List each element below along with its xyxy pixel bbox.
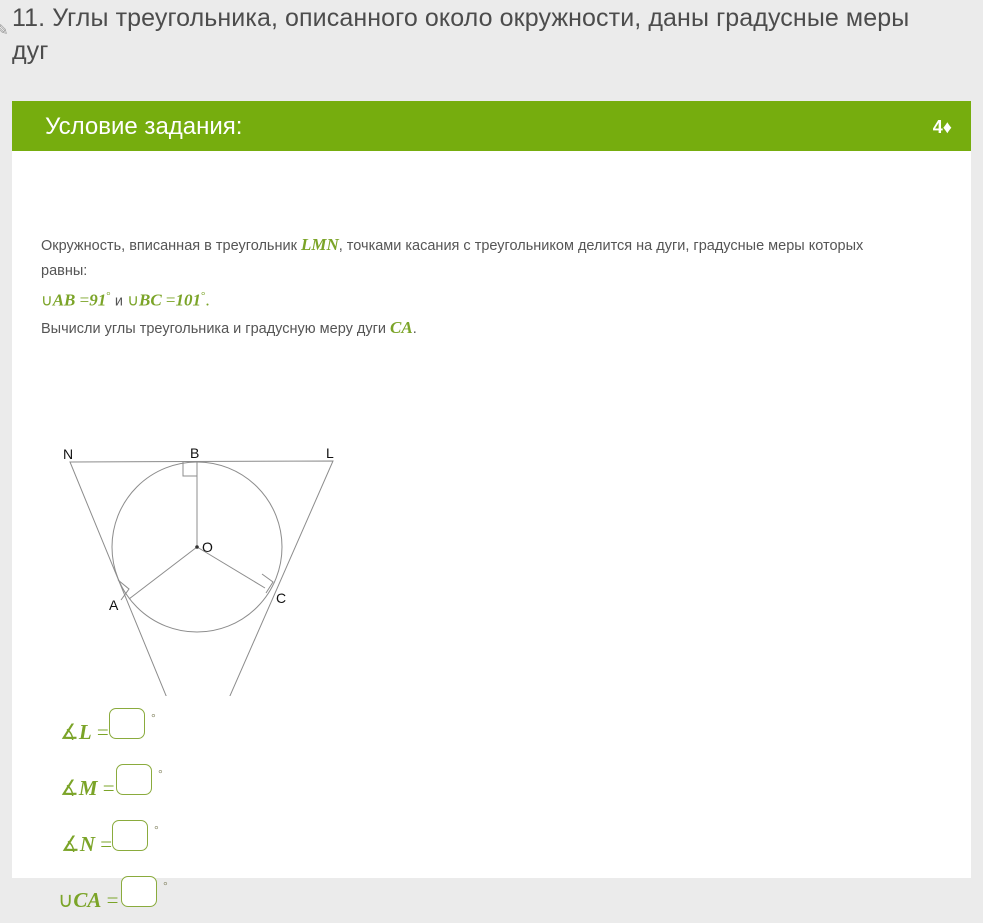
angle-equals-n: = — [100, 832, 112, 856]
center-point-o — [195, 545, 199, 549]
tangent-label-c: C — [276, 590, 286, 606]
angle-symbol-l: ∡ — [60, 720, 79, 744]
task-panel-header: Условие задания: 4♦ — [12, 101, 971, 151]
task-panel-header-title: Условие задания: — [45, 112, 242, 142]
statement-conjunction: и — [115, 294, 123, 310]
arc-variable-ca: CA — [73, 888, 101, 912]
answer-degree-l: ° — [151, 711, 156, 725]
task-panel: Условие задания: 4♦ Окружность, вписанна… — [12, 101, 971, 878]
tangent-label-a: A — [109, 597, 119, 613]
angle-variable-m: M — [79, 776, 98, 800]
statement-text-1a: Окружность, вписанная в треугольник — [41, 238, 301, 254]
arc-name-ab: AB — [53, 291, 76, 310]
answer-input-angle-l[interactable] — [109, 708, 145, 739]
triangle-lmn-path — [70, 461, 333, 696]
angle-symbol-m: ∡ — [60, 776, 79, 800]
answer-label-angle-n: ∡N = — [61, 832, 112, 857]
answer-row-angle-m: ∡M = ° — [52, 755, 352, 811]
center-label-o: O — [202, 539, 213, 555]
triangle-name-lmn: LMN — [301, 235, 339, 254]
angle-equals-l: = — [97, 720, 109, 744]
arc-symbol-bc: ∪ — [127, 293, 139, 310]
answer-degree-n: ° — [154, 823, 159, 837]
answers-section: ∡L = ° ∡M = ° ∡N = ° — [52, 699, 352, 923]
task-score-badge: 4♦ — [933, 115, 952, 139]
arc-equals-ca: = — [107, 888, 119, 912]
answer-input-angle-n[interactable] — [112, 820, 148, 851]
arc-bc-value: 101 — [176, 291, 202, 310]
arc-ab-value: 91 — [89, 291, 106, 310]
angle-symbol-n: ∡ — [61, 832, 80, 856]
statement-line-1: Окружность, вписанная в треугольник LMN,… — [41, 232, 911, 284]
arc-symbol-ab: ∪ — [41, 293, 53, 310]
angle-variable-n: N — [80, 832, 95, 856]
answer-degree-m: ° — [158, 767, 163, 781]
vertex-label-n: N — [63, 446, 73, 462]
angle-variable-l: L — [79, 720, 92, 744]
answer-label-arc-ca: ∪CA = — [58, 888, 118, 913]
answer-row-arc-ca: ∪CA = ° — [52, 867, 352, 923]
geometry-svg: N L B O A C M — [30, 331, 390, 696]
right-angle-mark-c — [262, 574, 273, 593]
radius-oa — [129, 547, 197, 599]
tangent-label-b: B — [190, 445, 199, 461]
angle-equals-m: = — [103, 776, 115, 800]
answer-input-angle-m[interactable] — [116, 764, 152, 795]
statement-line-2: ∪AB =91° и ∪BC =101°. — [41, 284, 911, 315]
right-angle-mark-b — [183, 462, 197, 476]
vertex-label-l: L — [326, 445, 334, 461]
arc-symbol-ca: ∪ — [58, 888, 73, 912]
page-title: 11. Углы треугольника, описанного около … — [12, 2, 942, 68]
answer-label-angle-l: ∡L = — [60, 720, 109, 745]
answer-degree-ca: ° — [163, 879, 168, 893]
geometry-figure: N L B O A C M — [30, 331, 390, 696]
answer-label-angle-m: ∡M = — [60, 776, 115, 801]
statement-period: . — [205, 291, 209, 310]
arc-name-bc: BC — [139, 291, 162, 310]
bookmark-icon: ✎ — [0, 18, 12, 44]
answer-input-arc-ca[interactable] — [121, 876, 157, 907]
arc-bc-equals: = — [166, 291, 176, 310]
arc-ab-equals: = — [80, 291, 90, 310]
statement-text-3b: . — [413, 321, 417, 337]
task-statement: Окружность, вписанная в треугольник LMN,… — [41, 232, 911, 342]
answer-row-angle-l: ∡L = ° — [52, 699, 352, 755]
arc-name-ca: CA — [390, 318, 413, 337]
answer-row-angle-n: ∡N = ° — [52, 811, 352, 867]
arc-ab-degree: ° — [106, 290, 110, 302]
